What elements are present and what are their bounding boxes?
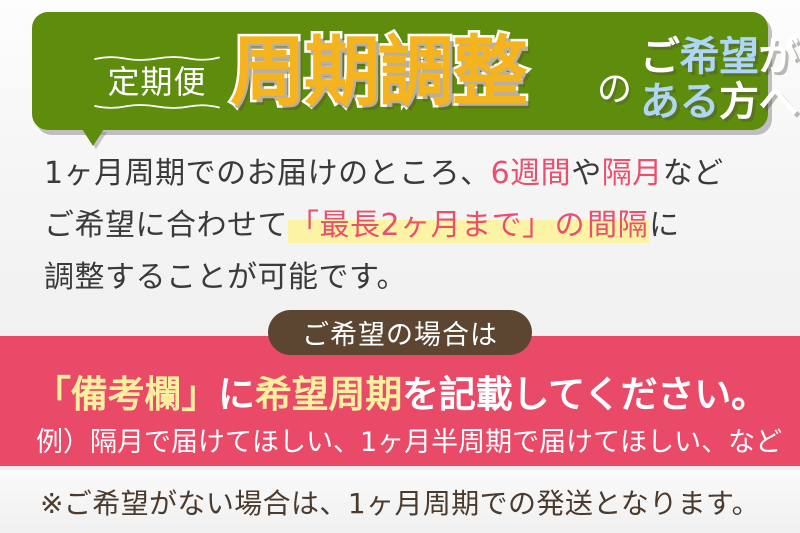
pink-instruction-line: 「備考欄」に希望周期を記載してください。 [34, 364, 768, 418]
body-seg-interval: 間隔 [586, 208, 649, 243]
side-note-seg-katahe: 方へ [719, 79, 798, 125]
body-seg-bimonthly: 隔月 [602, 156, 663, 191]
wave-rule-top-icon [94, 55, 220, 62]
body-seg-1a: 1ヶ月周期でのお届けのところ、 [44, 156, 491, 191]
body-copy-line-1: 1ヶ月周期でのお届けのところ、6週間や隔月など [44, 148, 800, 200]
body-seg-2e: に [649, 208, 680, 243]
body-copy-line-2: ご希望に合わせて「最長2ヶ月まで」の間隔に [44, 200, 800, 252]
body-seg-6weeks: 6週間 [491, 156, 572, 191]
body-seg-1e: など [663, 156, 724, 191]
promotional-banner: 定期便 周期調整 の ご希望が ある方へ 1ヶ月周期でのお届けのところ、6週間や… [0, 0, 800, 533]
footer-note-text: ※ご希望がない場合は、1ヶ月周期での発送となります。 [40, 482, 760, 522]
side-note-seg-aru: ある [640, 79, 719, 125]
pink-example-line: 例）隔月で届けてほしい、1ヶ月半周期で届けてほしい、など [36, 420, 782, 459]
pink-seg-desired-cycle: 希望周期 [255, 373, 402, 416]
body-copy: 1ヶ月周期でのお届けのところ、6週間や隔月など ご希望に合わせて「最長2ヶ月まで… [0, 148, 800, 304]
pink-seg-please-write: を記載してください。 [402, 373, 768, 416]
pink-seg-remarks-field: 「備考欄」 [34, 373, 218, 416]
subscription-badge: 定期便 [88, 44, 226, 120]
body-seg-2a: ご希望に合わせて [44, 208, 288, 243]
request-case-pill-label: ご希望の場合は [302, 313, 498, 352]
side-note-seg-ga: が [759, 34, 799, 80]
headline-title: 周期調整 [230, 34, 526, 110]
body-seg-2c: の [554, 208, 587, 243]
request-case-pill: ご希望の場合は [268, 310, 532, 355]
header-zone: 定期便 周期調整 の ご希望が ある方へ [0, 0, 800, 150]
green-speech-bubble: 定期便 周期調整 の ご希望が ある方へ [32, 12, 768, 130]
speech-bubble-tail-icon [82, 129, 104, 146]
header-side-note-line-1: ご希望が [640, 37, 800, 78]
header-side-note-line-2: ある方へ [640, 82, 800, 123]
side-note-seg-kibou: 希望 [680, 34, 759, 80]
wave-rule-bottom-icon [94, 103, 220, 110]
headline-particle: の [597, 73, 632, 108]
body-seg-1c: や [571, 156, 602, 191]
header-side-note: ご希望が ある方へ [640, 37, 800, 123]
subscription-badge-label: 定期便 [107, 66, 206, 98]
body-seg-max2months: 「最長2ヶ月まで」 [288, 208, 554, 243]
footer-note: ※ご希望がない場合は、1ヶ月周期での発送となります。 [0, 470, 800, 533]
side-note-seg-go: ご [640, 34, 680, 80]
pink-callout-band: 「備考欄」に希望周期を記載してください。 例）隔月で届けてほしい、1ヶ月半周期で… [0, 336, 800, 466]
body-copy-line-3: 調整することが可能です。 [44, 252, 800, 304]
pink-seg-ni: に [218, 373, 255, 416]
